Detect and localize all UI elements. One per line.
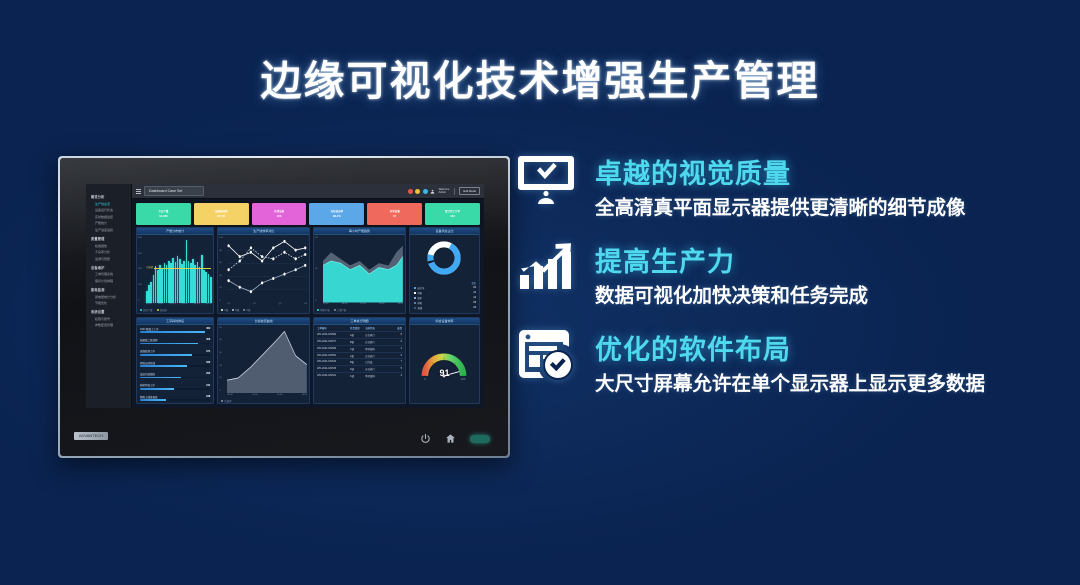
legend-label: 运行中	[417, 286, 471, 290]
kpi-label: 在线设备	[274, 210, 284, 213]
bar-chart-arrow-up-icon	[515, 240, 577, 310]
panel-title: 每小时产能趋势	[314, 228, 405, 235]
table-row[interactable]: WO-2024-031536D班正在执行5	[316, 365, 403, 372]
cell: 正在执行	[365, 367, 393, 371]
y-tick: 300	[138, 268, 145, 270]
kpi-card[interactable]: 今日产量 12,480	[136, 203, 191, 225]
sidebar-group: 设备维护 工单管理系统 保养计划排程	[91, 265, 127, 283]
feature-description: 全高清真平面显示器提供更清晰的细节成像	[595, 195, 995, 222]
kpi-value: 07	[393, 214, 396, 218]
list-item[interactable]: 质检复核工序241	[140, 383, 210, 389]
ranking-list[interactable]: CNC 精加工工序462 装配线二段流程408 表面	[137, 325, 213, 403]
feature-description: 大尺寸屏幕允许在单个显示器上显示更多数据	[595, 371, 995, 398]
legend-label: 待机	[417, 291, 471, 295]
x-tick: 10:00	[158, 303, 163, 307]
feature-text: 提高生产力 数据可视化加快决策和任务完成	[595, 240, 1045, 310]
y-axis-ticks: 600 450 300 150 0	[138, 237, 145, 302]
cell: 等待投料	[365, 374, 393, 378]
list-item[interactable]: CNC 精加工工序462	[140, 327, 210, 333]
legend-entry: C线	[243, 308, 250, 312]
gauge-chart: 0 100 91	[410, 325, 479, 403]
cell: 正在执行	[365, 333, 393, 337]
item-label: 焊接自动化线	[140, 361, 155, 365]
donut-legend-row: 停机06	[414, 301, 476, 306]
item-value: 408	[206, 338, 210, 341]
cell: WO-2024-031582	[317, 333, 350, 337]
threshold-line: 目标值	[146, 268, 211, 269]
peak-chart: 50 40 30 20 10 0	[218, 325, 309, 398]
legend-value: 06	[473, 302, 476, 304]
header-user-label: Welcome Admin	[439, 188, 450, 194]
status-dot-yellow-icon[interactable]	[415, 189, 420, 194]
sidebar-item-defect-analysis[interactable]: 不良率分析	[95, 250, 127, 254]
histogram-bars	[146, 237, 211, 303]
item-label: 物料上线准备段	[140, 395, 158, 399]
y-axis-ticks: 80 40 0	[315, 237, 322, 302]
x-tick: 14:00	[379, 303, 384, 307]
table-row[interactable]: WO-2024-031582A班正在执行8	[316, 331, 403, 338]
monitor-screen: 概览分析 生产线总览 设备运行状态 实时数据监控 产能统计 生产进度追踪 质量管…	[86, 184, 484, 408]
y-tick: 10	[219, 377, 226, 379]
monitor-product-image: 概览分析 生产线总览 设备运行状态 实时数据监控 产能统计 生产进度追踪 质量管…	[58, 156, 510, 458]
table-row[interactable]: WO-2024-031566C班等待投料4	[316, 345, 403, 352]
kpi-card[interactable]: 异常告警 07	[367, 203, 422, 225]
legend-value: 21	[473, 292, 476, 294]
ranking-rows: CNC 精加工工序462 装配线二段流程408 表面	[140, 327, 210, 401]
monitor-bezel: 概览分析 生产线总览 设备运行状态 实时数据监控 产能统计 生产进度追踪 质量管…	[60, 158, 508, 456]
legend-swatch	[157, 309, 159, 311]
item-label: 装配线二段流程	[140, 338, 158, 342]
legend-label: 维护	[417, 296, 471, 300]
sidebar-item-parameter-config[interactable]: 参数配置管理	[95, 323, 127, 327]
item-value: 371	[206, 350, 210, 353]
feature-description: 数据可视化加快决策和任务完成	[595, 283, 995, 310]
sidebar-item-trace-alert[interactable]: 追溯与预警	[95, 257, 127, 261]
sidebar-group-label: 系统设置	[91, 309, 127, 314]
y-tick: 40	[315, 268, 322, 270]
legend-label: C线	[246, 309, 250, 312]
panel-title: 工单执行明细	[314, 318, 405, 325]
x-tick: 14:00	[277, 394, 282, 398]
legend-label: B线	[235, 309, 239, 312]
kpi-card[interactable]: 设备稼动率 87.4%	[194, 203, 249, 225]
legend-entry: 目标线	[157, 308, 167, 312]
panel-gauge: 综合设备效率	[409, 317, 480, 404]
cell: C班	[350, 347, 365, 351]
cell: 7	[393, 360, 402, 364]
panel-title: 生产线效率对比	[218, 228, 309, 235]
kpi-value: 12,480	[159, 214, 168, 218]
sidebar-item-maintenance-plan[interactable]: 保养计划排程	[95, 279, 127, 283]
feature-item: 卓越的视觉质量 全高清真平面显示器提供更清晰的细节成像	[515, 152, 1045, 222]
y-tick: 50	[219, 327, 226, 329]
legend-swatch	[414, 287, 416, 289]
item-label: 表面处理工序	[140, 349, 155, 353]
legend-swatch	[232, 309, 234, 311]
progress-bar	[140, 388, 210, 390]
kpi-label: 今日产量	[158, 210, 168, 213]
legend-label: 停机	[417, 301, 471, 305]
x-tick: Q3	[279, 303, 282, 307]
cell: A班	[350, 333, 365, 337]
kpi-label: 异常告警	[390, 210, 400, 213]
kpi-card-row: 今日产量 12,480 设备稼动率 87.4% 在线设备 126	[132, 199, 484, 227]
x-tick: 08:00	[146, 303, 151, 307]
cell: 9	[393, 354, 402, 358]
cell: D班	[350, 367, 365, 371]
dashboard-header: Dashboard Case Set Welcome A	[132, 184, 484, 199]
panel-multiline: 生产线效率对比 100 80 60 40 20 0	[217, 227, 310, 314]
list-item[interactable]: 成品包装线段295	[140, 372, 210, 378]
header-divider	[454, 188, 455, 195]
sidebar-group-label: 质量管理	[91, 236, 127, 241]
work-order-table[interactable]: 工单编号 负责班组 当前状态 进度 WO-2024-031582A班正在执行8 …	[314, 325, 405, 403]
sidebar-group-label: 设备维护	[91, 265, 127, 270]
panel-histogram: 产量分布统计 600 450 300 150 0	[136, 227, 214, 314]
x-tick: 10:00	[252, 394, 257, 398]
y-tick: 450	[138, 253, 145, 255]
donut-legend-row: 维护12	[414, 296, 476, 301]
sidebar-group: 概览分析 生产线总览 设备运行状态 实时数据监控 产能统计 生产进度追踪	[91, 194, 127, 232]
donut-chart: 数量 运行中84 待机21 维护12 停机06 离线03	[410, 235, 479, 313]
y-tick: 0	[219, 390, 226, 392]
cell: 4	[393, 347, 402, 351]
legend-swatch	[414, 307, 416, 309]
cell: 已完成	[365, 360, 393, 364]
x-axis-ticks: 02:00 06:00 10:00 14:00 18:00	[323, 303, 403, 307]
home-icon[interactable]	[445, 433, 456, 444]
column-header: 工单编号	[317, 326, 350, 330]
legend-swatch	[317, 309, 319, 311]
item-label: 质检复核工序	[140, 383, 155, 387]
y-tick: 100	[219, 237, 226, 239]
x-tick: 18:00	[397, 303, 402, 307]
cell: WO-2024-031536	[317, 367, 350, 371]
sidebar-item-permissions[interactable]: 权限与账号	[95, 317, 127, 321]
feature-text: 卓越的视觉质量 全高清真平面显示器提供更清晰的细节成像	[595, 152, 1045, 222]
peak-plot	[227, 327, 307, 393]
x-tick: 12:00	[170, 303, 175, 307]
histogram-plot: 目标值	[146, 237, 211, 303]
panel-area: 每小时产能趋势 80 40 0	[313, 227, 406, 314]
header-user-line2: Admin	[439, 191, 446, 194]
status-dot-blue-icon[interactable]	[423, 189, 428, 194]
sidebar-item-progress-tracking[interactable]: 生产进度追踪	[95, 228, 127, 232]
cell: WO-2024-031577	[317, 340, 350, 344]
column-header: 当前状态	[365, 326, 393, 330]
sidebar-item-realtime-monitor[interactable]: 实时数据监控	[95, 215, 127, 219]
cell: 等待投料	[365, 347, 393, 351]
cell: C班	[350, 374, 365, 378]
legend-swatch	[414, 297, 416, 299]
header-right-tools: Welcome Admin Edit Mode	[408, 187, 480, 195]
sidebar-item-production-overview[interactable]: 生产线总览	[95, 202, 127, 206]
x-tick: 06:00	[227, 394, 232, 398]
legend-entry: 实际产量	[140, 308, 153, 312]
legend-swatch	[243, 309, 245, 311]
progress-bar	[140, 399, 210, 401]
dashboard-main: Dashboard Case Set Welcome A	[132, 184, 484, 408]
x-tick: 14:00	[182, 303, 187, 307]
cell: 正在执行	[365, 340, 393, 344]
x-axis-ticks: Q1 Q2 Q3 Q4	[227, 303, 307, 307]
panel-ranking: 工序耗时排名 CNC 精加工工序462 装配线二段流程408	[136, 317, 214, 404]
gauge-value: 91	[410, 368, 479, 378]
cell: WO-2024-031521	[317, 374, 350, 378]
progress-bar	[140, 377, 210, 379]
y-tick: 20	[219, 287, 226, 289]
item-value: 336	[206, 361, 210, 364]
legend-label: 负载率	[224, 400, 231, 403]
cell: 5	[393, 367, 402, 371]
kpi-value: 126	[277, 214, 282, 218]
kpi-label: 累计完工订单	[445, 210, 460, 213]
power-icon[interactable]	[420, 433, 431, 444]
x-tick: 16:00	[194, 303, 199, 307]
item-value: 295	[206, 372, 210, 375]
histogram-chart: 600 450 300 150 0	[137, 235, 213, 308]
cell: 8	[393, 333, 402, 337]
sidebar-group-label: 概览分析	[91, 194, 127, 199]
panel-donut: 设备状态占比 数量 运行中84	[409, 227, 480, 314]
y-tick: 30	[219, 352, 226, 354]
legend-swatch	[414, 292, 416, 294]
sidebar-item-energy-optimize[interactable]: 节能优化	[95, 301, 127, 305]
user-avatar-icon[interactable]	[430, 189, 435, 194]
sidebar-item-inspection-report[interactable]: 检验报告	[95, 244, 127, 248]
column-header: 负责班组	[350, 326, 365, 330]
legend-swatch	[334, 309, 336, 311]
panel-table: 工单执行明细 工单编号 负责班组 当前状态 进度	[313, 317, 406, 404]
panel-legend: 负载率	[218, 398, 309, 403]
kpi-card[interactable]: 累计完工订单 342	[425, 203, 480, 225]
legend-label: 上期产能	[337, 309, 347, 312]
hamburger-icon[interactable]	[136, 189, 141, 194]
list-item[interactable]: 物料上线准备段188	[140, 395, 210, 401]
panel-legend: 实际产量 目标线	[137, 308, 213, 313]
panel-title: 产量分布统计	[137, 228, 213, 235]
legend-swatch	[221, 309, 223, 311]
progress-bar	[140, 331, 210, 333]
y-tick: 60	[219, 262, 226, 264]
legend-label: 本期产能	[320, 309, 330, 312]
page-title: 边缘可视化技术增强生产管理	[0, 47, 1080, 107]
donut-legend: 数量 运行中84 待机21 维护12 停机06 离线03	[414, 281, 476, 311]
area-chart: 80 40 0	[314, 235, 405, 308]
item-label: CNC 精加工工序	[140, 327, 159, 331]
brand-logo: ADVANTECH	[74, 432, 108, 440]
window-layout-check-icon	[515, 328, 577, 398]
donut-legend-row: 运行中84	[414, 286, 476, 291]
legend-entry: 本期产能	[317, 308, 330, 312]
legend-value: 84	[473, 287, 476, 289]
panel-legend: A线 B线 C线	[218, 308, 309, 313]
monitor-check-icon	[515, 152, 577, 222]
y-tick: 0	[315, 300, 322, 302]
legend-value: 03	[473, 307, 476, 309]
table-row[interactable]: WO-2024-031577B班正在执行6	[316, 338, 403, 345]
status-dot-red-icon[interactable]	[408, 189, 413, 194]
progress-bar	[140, 354, 210, 356]
x-tick: 10:00	[360, 303, 365, 307]
y-tick: 80	[219, 250, 226, 252]
kpi-label: 设备稼动率	[215, 210, 228, 213]
legend-label: 离线	[417, 306, 471, 310]
table-row[interactable]: WO-2024-031551A班正在执行9	[316, 352, 403, 359]
feature-title: 提高生产力	[595, 240, 1045, 279]
item-value: 462	[206, 327, 210, 330]
legend-swatch	[140, 309, 142, 311]
progress-bar	[140, 365, 210, 367]
progress-bar	[140, 343, 210, 345]
dashboard-sidebar[interactable]: 概览分析 生产线总览 设备运行状态 实时数据监控 产能统计 生产进度追踪 质量管…	[86, 184, 132, 408]
legend-entry: 负载率	[221, 399, 231, 403]
item-label: 成品包装线段	[140, 372, 155, 376]
threshold-label: 目标值	[146, 265, 154, 269]
y-tick: 150	[138, 284, 145, 286]
legend-label: 目标线	[160, 309, 167, 312]
legend-value: 12	[473, 297, 476, 299]
monitor-bottom-bezel: ADVANTECH	[60, 408, 508, 456]
cell: 正在执行	[365, 354, 393, 358]
kpi-value: 87.4%	[217, 214, 225, 218]
feature-title: 卓越的视觉质量	[595, 152, 1045, 191]
legend-swatch	[414, 302, 416, 304]
kpi-card[interactable]: 在线设备 126	[252, 203, 307, 225]
y-tick: 80	[315, 237, 322, 239]
feature-title: 优化的软件布局	[595, 328, 1045, 367]
cell: 6	[393, 340, 402, 344]
y-tick: 20	[219, 365, 226, 367]
monitor-outer-frame: 概览分析 生产线总览 设备运行状态 实时数据监控 产能统计 生产进度追踪 质量管…	[58, 156, 510, 458]
panel-title: 设备状态占比	[410, 228, 479, 235]
x-tick: 06:00	[342, 303, 347, 307]
table-row[interactable]: WO-2024-031521C班等待投料3	[316, 372, 403, 379]
cell: WO-2024-031566	[317, 347, 350, 351]
donut-legend-row: 待机21	[414, 291, 476, 296]
kpi-value: 342	[450, 214, 455, 218]
y-axis-ticks: 100 80 60 40 20 0	[219, 237, 226, 302]
multiline-plot	[227, 237, 307, 303]
sidebar-item-capacity-stats[interactable]: 产能统计	[95, 221, 127, 225]
y-axis-ticks: 50 40 30 20 10 0	[219, 327, 226, 392]
feature-list: 卓越的视觉质量 全高清真平面显示器提供更清晰的细节成像 提高生产力 数据可视化加…	[515, 152, 1045, 416]
panel-peak: 负载峰值曲线 50 40 30 20 10 0	[217, 317, 310, 404]
sidebar-item-power-stats[interactable]: 用电量统计分析	[95, 295, 127, 299]
x-axis-ticks: 08:00 10:00 12:00 14:00 16:00 18:00	[146, 303, 211, 307]
list-item[interactable]: 装配线二段流程408	[140, 338, 210, 344]
donut-legend-row: 离线03	[414, 306, 476, 311]
x-tick: 18:00	[302, 394, 307, 398]
x-axis-ticks: 06:00 10:00 14:00 18:00	[227, 394, 307, 398]
x-tick: Q2	[253, 303, 256, 307]
kpi-value: 98.2%	[333, 214, 341, 218]
legend-label: A线	[224, 309, 228, 312]
y-tick: 40	[219, 339, 226, 341]
panel-title: 综合设备效率	[410, 318, 479, 325]
y-tick: 0	[219, 300, 226, 302]
status-indicator	[470, 435, 490, 443]
cell: A班	[350, 354, 365, 358]
dashboard-app: 概览分析 生产线总览 设备运行状态 实时数据监控 产能统计 生产进度追踪 质量管…	[86, 184, 484, 408]
table: 工单编号 负责班组 当前状态 进度 WO-2024-031582A班正在执行8 …	[316, 326, 403, 402]
x-tick: 18:00	[206, 303, 211, 307]
legend-swatch	[221, 400, 223, 402]
panel-title: 负载峰值曲线	[218, 318, 309, 325]
sidebar-group: 能耗监测 用电量统计分析 节能优化	[91, 287, 127, 305]
cell: 3	[393, 374, 402, 378]
dashboard-row-1: 产量分布统计 600 450 300 150 0	[132, 227, 484, 317]
item-value: 188	[206, 395, 210, 398]
dashboard-row-2: 工序耗时排名 CNC 精加工工序462 装配线二段流程408	[132, 317, 484, 408]
table-row[interactable]: WO-2024-031540B班已完成7	[316, 358, 403, 365]
cell: WO-2024-031540	[317, 360, 350, 364]
sidebar-item-work-order[interactable]: 工单管理系统	[95, 272, 127, 276]
kpi-label: 当前良品率	[331, 210, 344, 213]
multiline-chart: 100 80 60 40 20 0	[218, 235, 309, 308]
panel-title: 工序耗时排名	[137, 318, 213, 325]
legend-entry: A线	[221, 308, 228, 312]
y-tick: 0	[138, 300, 145, 302]
kpi-card[interactable]: 当前良品率 98.2%	[309, 203, 364, 225]
sidebar-group-label: 能耗监测	[91, 287, 127, 292]
item-value: 241	[206, 384, 210, 387]
x-tick: Q4	[304, 303, 307, 307]
column-header: 进度	[393, 326, 402, 330]
cell: WO-2024-031551	[317, 354, 350, 358]
y-tick: 600	[138, 237, 145, 239]
x-tick: Q1	[227, 303, 230, 307]
legend-entry: B线	[232, 308, 239, 312]
sidebar-group: 系统设置 权限与账号 参数配置管理	[91, 309, 127, 327]
list-item[interactable]: 焊接自动化线336	[140, 361, 210, 367]
sidebar-group: 质量管理 检验报告 不良率分析 追溯与预警	[91, 236, 127, 261]
panel-legend: 本期产能 上期产能	[314, 308, 405, 313]
sidebar-item-equipment-status[interactable]: 设备运行状态	[95, 208, 127, 212]
feature-text: 优化的软件布局 大尺寸屏幕允许在单个显示器上显示更多数据	[595, 328, 1045, 398]
legend-label: 实际产量	[143, 309, 153, 312]
cell: B班	[350, 340, 365, 344]
area-plot	[323, 237, 403, 303]
edit-mode-button[interactable]: Edit Mode	[459, 187, 480, 195]
list-item[interactable]: 表面处理工序371	[140, 349, 210, 355]
x-tick: 02:00	[323, 303, 328, 307]
bezel-button-group	[420, 433, 490, 444]
dashboard-title: Dashboard Case Set	[144, 186, 204, 195]
y-tick: 40	[219, 275, 226, 277]
feature-item: 提高生产力 数据可视化加快决策和任务完成	[515, 240, 1045, 310]
feature-item: 优化的软件布局 大尺寸屏幕允许在单个显示器上显示更多数据	[515, 328, 1045, 398]
legend-entry: 上期产能	[334, 308, 347, 312]
cell: B班	[350, 360, 365, 364]
